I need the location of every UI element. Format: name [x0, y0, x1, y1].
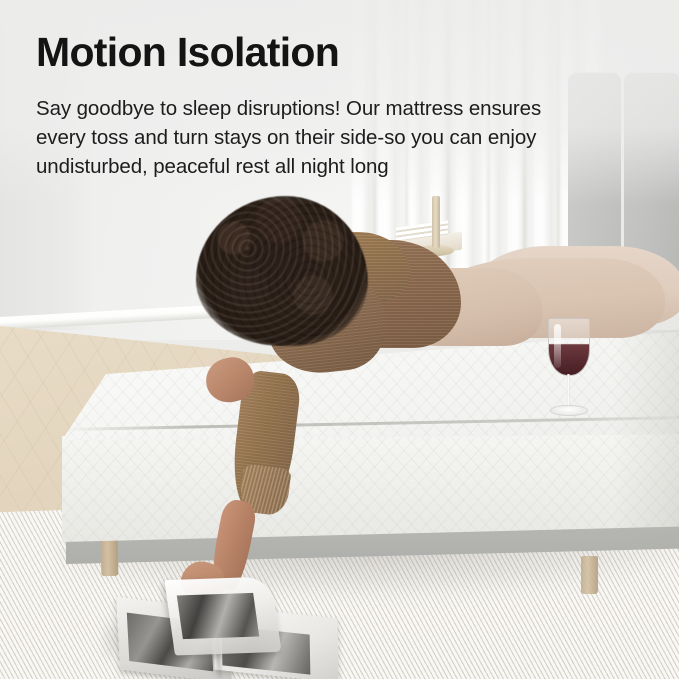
wine-glass	[540, 318, 598, 422]
curly-hair	[196, 196, 368, 346]
wine-glass-foot	[550, 405, 588, 416]
open-magazine	[118, 578, 338, 679]
motion-isolation-promo-image: Motion Isolation Say goodbye to sleep di…	[0, 0, 679, 679]
wine-glass-stem	[567, 374, 570, 408]
wine-glass-highlight	[554, 324, 561, 368]
page-title: Motion Isolation	[36, 30, 596, 74]
hair-curl-texture	[196, 196, 368, 346]
subheading-text: Say goodbye to sleep disruptions! Our ma…	[36, 94, 581, 181]
magazine-turning-page-photo	[177, 593, 259, 639]
text-block: Motion Isolation Say goodbye to sleep di…	[36, 30, 596, 182]
